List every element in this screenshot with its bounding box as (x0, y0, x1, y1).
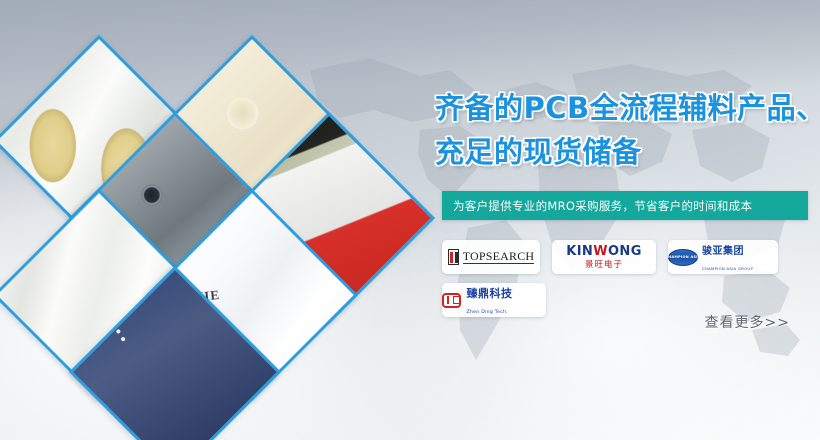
promo-banner: JIE 齐备的PCB全流程辅料产品、 充足的现货储备 为客户提供专业的MRO采购… (0, 0, 820, 440)
kinwong-wordmark: KINWONG (566, 245, 642, 258)
champion-asia-chinese-name: 骏亚集团 (702, 246, 744, 257)
partner-logo-champion-asia[interactable]: CHAMPION ASIA 骏亚集团 CHAMPION ASIA GROUP (668, 240, 778, 274)
partner-logo-zhen-ding[interactable]: 臻鼎科技 Zhen Ding Tech. (442, 283, 546, 317)
zhen-ding-emblem-icon (442, 293, 461, 308)
champion-asia-english-name: CHAMPION ASIA GROUP (702, 266, 753, 271)
zhen-ding-chinese-name: 臻鼎科技 (466, 287, 512, 300)
partner-logo-topsearch[interactable]: TOPSEARCH (442, 240, 540, 274)
banner-subtitle-bar: 为客户提供专业的MRO采购服务，节省客户的时间和成本 (442, 191, 808, 220)
headline-line-2: 充足的现货储备 (435, 130, 820, 174)
champion-asia-globe-icon: CHAMPION ASIA (668, 249, 698, 266)
kinwong-chinese-name: 景旺电子 (566, 261, 642, 270)
topsearch-wordmark: TOPSEARCH (463, 250, 535, 264)
topsearch-book-icon (448, 249, 459, 265)
view-more-link[interactable]: 查看更多>> (705, 312, 790, 332)
product-diamond-mosaic: JIE (0, 0, 430, 440)
zhen-ding-english-name: Zhen Ding Tech. (466, 310, 508, 315)
partner-logo-row-1: TOPSEARCH KINWONG 景旺电子 CHAMPION ASIA 骏亚集… (442, 240, 812, 274)
partner-logo-kinwong[interactable]: KINWONG 景旺电子 (552, 240, 656, 274)
banner-headline: 齐备的PCB全流程辅料产品、 充足的现货储备 (435, 86, 820, 174)
banner-subtitle-text: 为客户提供专业的MRO采购服务，节省客户的时间和成本 (442, 198, 752, 214)
headline-line-1: 齐备的PCB全流程辅料产品、 (435, 91, 820, 125)
banner-content: 齐备的PCB全流程辅料产品、 充足的现货储备 为客户提供专业的MRO采购服务，节… (430, 0, 820, 440)
